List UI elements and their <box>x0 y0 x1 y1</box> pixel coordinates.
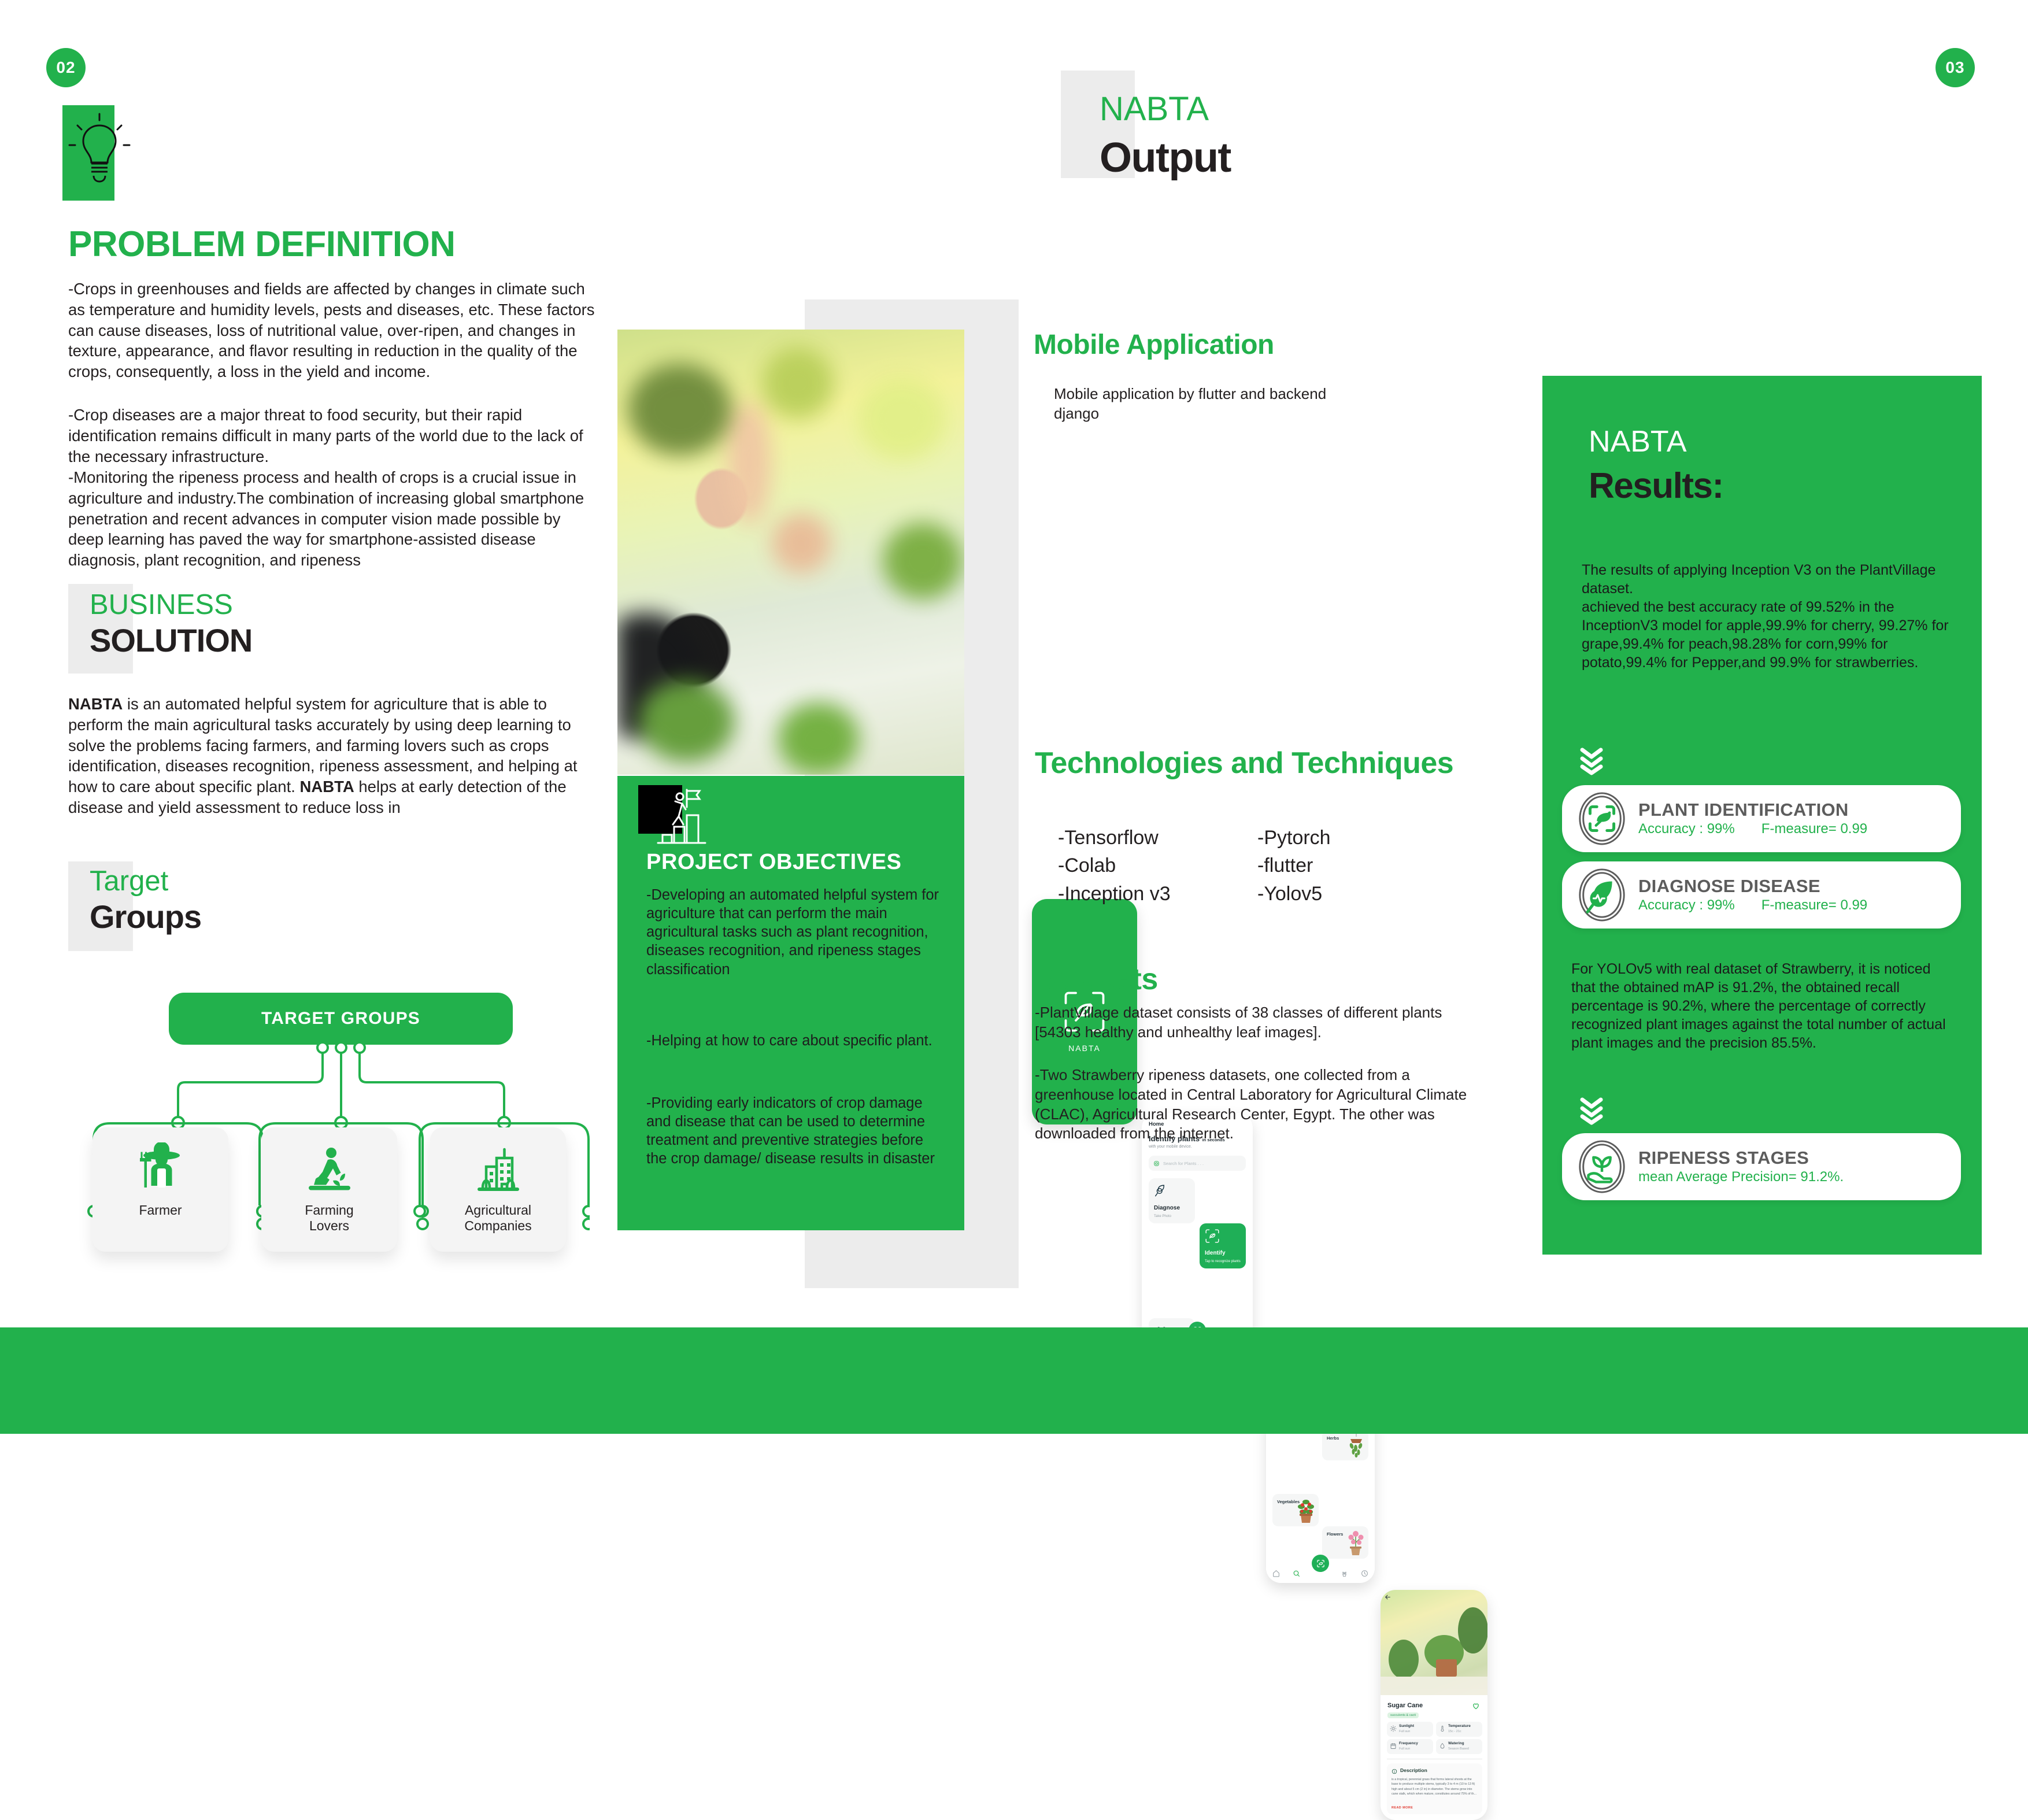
results-kicker: NABTA <box>1589 427 1687 457</box>
result-card-diagnose-disease: DIAGNOSE DISEASE Accuracy : 99% F-measur… <box>1562 861 1961 929</box>
objectives-item-1: -Developing an automated helpful system … <box>646 886 947 979</box>
category-tile-vegetables[interactable]: Vegetables <box>1272 1494 1319 1526</box>
plant-fact-watering: Watering Season Based <box>1436 1739 1482 1754</box>
problem-paragraph-3: -Monitoring the ripeness process and hea… <box>68 467 595 571</box>
scan-leaf-icon <box>1316 1559 1325 1568</box>
achievement-flag-icon <box>646 786 715 846</box>
plant-fact-label: Sunlight <box>1399 1724 1414 1728</box>
results-panel: NABTA Results: The results of applying I… <box>1542 376 1982 1255</box>
tag-leaf-icon <box>1153 1160 1160 1167</box>
read-more-link[interactable]: READ MORE <box>1392 1806 1413 1810</box>
plant-name: Sugar Cane <box>1387 1702 1423 1709</box>
target-card-label: Agricultural Companies <box>464 1203 531 1234</box>
flower-pot-icon <box>1346 1530 1365 1558</box>
plant-fact-value: Full sun <box>1399 1730 1410 1733</box>
droplet-icon <box>1439 1743 1446 1749</box>
plant-fact-label: Temperature <box>1448 1724 1471 1728</box>
problem-paragraph-1: -Crops in greenhouses and fields are aff… <box>68 279 595 382</box>
chevron-down-icon <box>1578 1096 1605 1126</box>
target-groups-pill: TARGET GROUPS <box>169 993 513 1045</box>
info-icon <box>1392 1769 1397 1774</box>
result-card-plant-identification: PLANT IDENTIFICATION Accuracy : 99% F-me… <box>1562 785 1961 852</box>
hero-photo <box>617 330 964 775</box>
plant-description-text: is a tropical, perennial grass that form… <box>1392 1777 1478 1797</box>
phone-tile-sub: Take Photo <box>1154 1215 1171 1218</box>
phone-home-search-input[interactable]: Search for Plants . . . <box>1149 1156 1246 1171</box>
tech-item: -Tensorflow <box>1058 824 1171 852</box>
result-card-accuracy: Accuracy : 99% <box>1638 897 1735 914</box>
header-kicker: NABTA <box>1100 93 1209 126</box>
phone-plant-detail: Sugar Cane succulents & cacti Sunlight F… <box>1381 1590 1487 1820</box>
phone-tile-title: Identify <box>1205 1250 1226 1256</box>
target-card-label: Farmer <box>139 1203 182 1218</box>
solution-title: SOLUTION <box>90 624 252 657</box>
tech-item: -Inception v3 <box>1058 880 1171 908</box>
objectives-heading: PROJECT OBJECTIVES <box>646 850 902 875</box>
plant-description-heading: Description <box>1400 1767 1427 1773</box>
diagnose-leaf-icon <box>1154 1183 1169 1198</box>
scan-leaf-icon <box>1205 1229 1220 1244</box>
results-intro-text: The results of applying Inception V3 on … <box>1582 561 1952 672</box>
phone-tile-title: Diagnose <box>1154 1205 1180 1211</box>
result-card-fmeasure: F-measure= 0.99 <box>1761 821 1867 838</box>
phone-home-subtitle: with your mobile device. <box>1149 1145 1192 1149</box>
solution-brand-2: NABTA <box>300 778 354 796</box>
plant-tag: succulents & cacti <box>1387 1712 1419 1718</box>
objectives-item-2: -Helping at how to care about specific p… <box>646 1031 947 1050</box>
calendar-icon <box>1390 1743 1397 1749</box>
result-card-accuracy: Accuracy : 99% <box>1638 821 1735 838</box>
target-card-label: Farming Lovers <box>305 1203 353 1234</box>
scan-leaf-icon <box>1575 791 1629 846</box>
chevron-down-icon <box>1578 746 1605 776</box>
tech-item: -Colab <box>1058 852 1171 879</box>
target-card-agri-companies[interactable]: Agricultural Companies <box>430 1127 566 1252</box>
tech-col-2: -Pytorch -flutter -Yolov5 <box>1257 824 1331 908</box>
solution-kicker: BUSINESS <box>90 591 233 619</box>
farmer-icon <box>133 1142 188 1198</box>
phone-home-search-placeholder: Search for Plants . . . <box>1163 1161 1204 1166</box>
building-icon <box>471 1142 526 1198</box>
page-number-right: 03 <box>1936 48 1975 87</box>
project-objectives-panel: PROJECT OBJECTIVES -Developing an automa… <box>617 776 964 1230</box>
plant-fact-frequency: Frequency Full sun <box>1387 1739 1433 1754</box>
datasets-heading-label: Datasets <box>1035 963 1158 996</box>
search-icon[interactable] <box>1293 1570 1300 1577</box>
target-title: Groups <box>90 901 201 933</box>
result-card-title: RIPENESS STAGES <box>1638 1148 1844 1168</box>
target-card-farmer[interactable]: Farmer <box>92 1127 228 1252</box>
footer-bar <box>0 1327 2028 1434</box>
phone-search-scan-fab[interactable] <box>1312 1555 1329 1572</box>
target-card-farming-lovers[interactable]: Farming Lovers <box>261 1127 397 1252</box>
gardener-icon <box>302 1142 357 1198</box>
plant-fact-temperature: Temperature 15c - 21c <box>1436 1722 1482 1737</box>
results-yolo-text: For YOLOv5 with real dataset of Strawber… <box>1571 960 1953 1052</box>
tech-heading: Technologies and Techniques <box>1035 748 1453 778</box>
tech-col-1: -Tensorflow -Colab -Inception v3 <box>1058 824 1171 908</box>
target-kicker: Target <box>90 867 168 896</box>
problem-paragraph-2: -Crop diseases are a major threat to foo… <box>68 405 595 467</box>
result-card-title: DIAGNOSE DISEASE <box>1638 876 1867 896</box>
plant-fact-value: Full sun <box>1399 1747 1410 1751</box>
mobile-app-heading: Mobile Application <box>1034 331 1274 359</box>
phone-tile-identify[interactable]: Identify Tap to recognize plants <box>1200 1223 1246 1268</box>
phone-tile-diagnose[interactable]: Diagnose Take Photo <box>1149 1178 1195 1223</box>
solution-body: NABTA is an automated helpful system for… <box>68 694 595 818</box>
result-card-map: mean Average Precision= 91.2%. <box>1638 1169 1844 1186</box>
hanging-herb-icon <box>1346 1432 1366 1459</box>
category-tile-flowers[interactable]: Flowers <box>1322 1526 1368 1559</box>
phone-tile-sub: Tap to recognize plants <box>1205 1260 1241 1263</box>
category-label: Herbs <box>1327 1436 1339 1441</box>
phone-splash-brand: NABTA <box>1032 1044 1137 1053</box>
plant-fact-value: Season Based <box>1448 1747 1469 1751</box>
thermometer-icon <box>1439 1725 1446 1732</box>
results-title: Results: <box>1589 468 1723 504</box>
home-icon[interactable] <box>1272 1570 1280 1577</box>
history-icon[interactable] <box>1361 1570 1368 1577</box>
datasets-item-1: -PlantVillage dataset consists of 38 cla… <box>1035 1003 1492 1042</box>
page-number-left: 02 <box>46 48 86 87</box>
result-card-ripeness-stages: RIPENESS STAGES mean Average Precision= … <box>1562 1133 1961 1200</box>
tech-item: -Pytorch <box>1257 824 1331 852</box>
tech-item: -Yolov5 <box>1257 880 1331 908</box>
header-title: Output <box>1100 137 1231 179</box>
page-title: PROBLEM DEFINITION <box>68 227 542 262</box>
plant-fact-label: Frequency <box>1399 1741 1418 1745</box>
mobile-app-subtitle: Mobile application by flutter and backen… <box>1054 384 1343 424</box>
datasets-heading: Datasets <box>1035 964 1158 994</box>
lightbulb-icon <box>65 113 134 191</box>
plant-description-card: Description is a tropical, perennial gra… <box>1387 1763 1482 1814</box>
page-number-right-label: 03 <box>1945 58 1964 77</box>
plant-detail-hero-photo <box>1381 1590 1487 1695</box>
plant-fact-sunlight: Sunlight Full sun <box>1387 1722 1433 1737</box>
datasets-item-2: -Two Strawberry ripeness datasets, one c… <box>1035 1066 1492 1144</box>
sun-icon <box>1390 1725 1397 1732</box>
tech-item: -flutter <box>1257 852 1331 879</box>
plant-pot-icon[interactable] <box>1341 1570 1348 1577</box>
category-tile-herbs[interactable]: Herbs <box>1322 1430 1368 1460</box>
page-number-left-label: 02 <box>56 58 75 77</box>
result-card-fmeasure: F-measure= 0.99 <box>1761 897 1867 914</box>
hand-sprout-icon <box>1575 1140 1629 1194</box>
result-card-title: PLANT IDENTIFICATION <box>1638 800 1867 820</box>
plant-fact-value: 15c - 21c <box>1448 1730 1461 1733</box>
diagnose-leaf-icon <box>1575 868 1629 922</box>
objectives-item-3: -Providing early indicators of crop dama… <box>646 1094 947 1168</box>
heart-icon[interactable] <box>1472 1702 1480 1710</box>
tomato-plant-icon <box>1296 1497 1316 1525</box>
solution-brand-1: NABTA <box>68 695 123 713</box>
target-groups-pill-label: TARGET GROUPS <box>261 1009 420 1029</box>
plant-fact-label: Watering <box>1448 1741 1464 1745</box>
divider <box>1387 1759 1482 1759</box>
phone-home: Home Identify plants in seconds with you… <box>1142 1113 1253 1350</box>
category-label: Flowers <box>1327 1532 1343 1537</box>
